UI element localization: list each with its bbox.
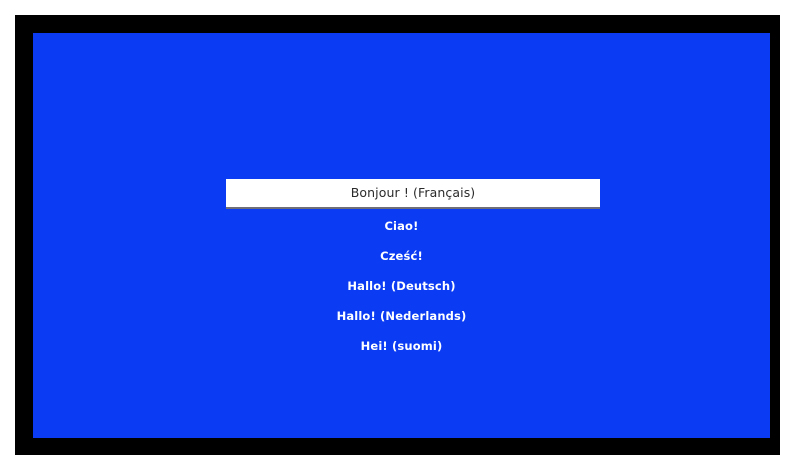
- language-option-label: Hei! (suomi): [361, 341, 443, 353]
- screen-bezel-frame: Bonjour ! (Français) Ciao! Cześć! Hallo!…: [15, 15, 780, 455]
- language-option-polski[interactable]: Cześć!: [33, 248, 770, 266]
- language-option-list: Bonjour ! (Français) Ciao! Cześć! Hallo!…: [33, 33, 770, 438]
- language-option-francais[interactable]: Bonjour ! (Français): [226, 179, 600, 209]
- language-option-nederlands[interactable]: Hallo! (Nederlands): [33, 308, 770, 326]
- language-option-italiano[interactable]: Ciao!: [33, 218, 770, 236]
- page-canvas: Bonjour ! (Français) Ciao! Cześć! Hallo!…: [0, 0, 800, 473]
- language-option-deutsch[interactable]: Hallo! (Deutsch): [33, 278, 770, 296]
- language-option-label: Hallo! (Nederlands): [337, 311, 467, 323]
- language-option-label: Bonjour ! (Français): [351, 187, 476, 200]
- language-option-label: Ciao!: [384, 221, 418, 233]
- language-option-label: Hallo! (Deutsch): [347, 281, 455, 293]
- language-selection-app-surface: Bonjour ! (Français) Ciao! Cześć! Hallo!…: [33, 33, 770, 438]
- language-option-suomi[interactable]: Hei! (suomi): [33, 338, 770, 356]
- language-option-label: Cześć!: [380, 251, 423, 263]
